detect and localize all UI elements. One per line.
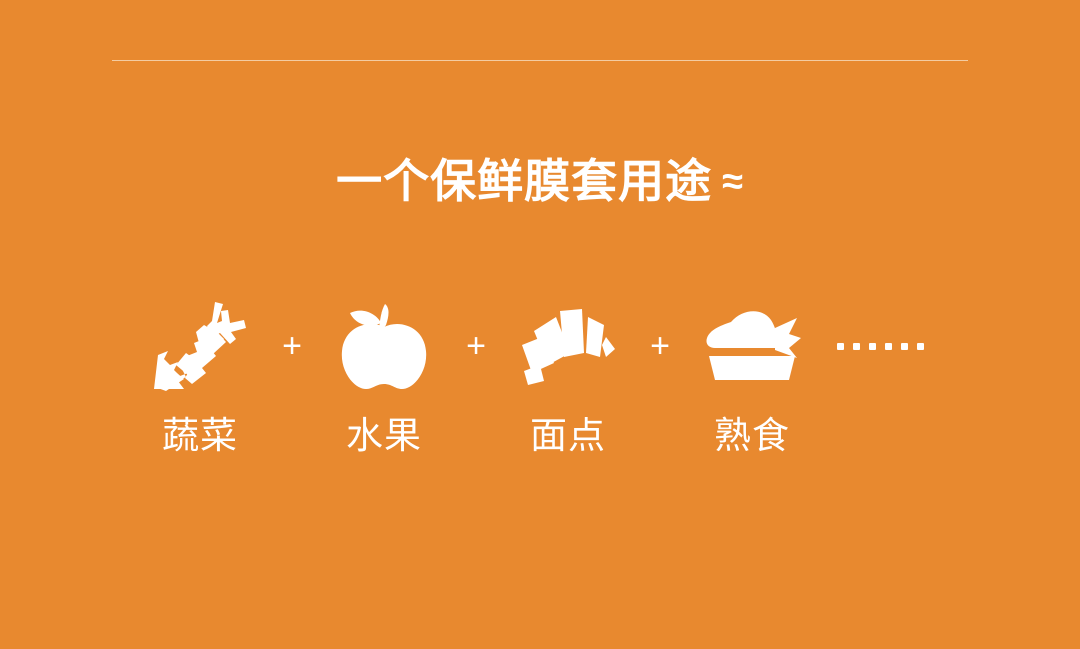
label-vegetables: 蔬菜 bbox=[140, 416, 260, 457]
apple-icon bbox=[338, 299, 430, 393]
plus-separator-2: + bbox=[444, 296, 508, 396]
ellipsis-dot bbox=[901, 343, 908, 350]
ellipsis-dots bbox=[812, 296, 932, 396]
ellipsis-dot bbox=[917, 343, 924, 350]
plus-separator-1: + bbox=[260, 296, 324, 396]
ellipsis-dot bbox=[869, 343, 876, 350]
item-pastry bbox=[508, 296, 628, 396]
label-row: 蔬菜 水果 面点 熟食 bbox=[140, 408, 950, 464]
page-title-text: 一个保鲜膜套用途 bbox=[336, 155, 712, 207]
croissant-icon bbox=[518, 301, 618, 391]
roast-chicken-platter-icon bbox=[701, 306, 803, 386]
plus-separator-3: + bbox=[628, 296, 692, 396]
ellipsis-dot bbox=[853, 343, 860, 350]
carrot-icon bbox=[152, 299, 248, 393]
item-vegetables bbox=[140, 296, 260, 396]
label-fruit: 水果 bbox=[324, 416, 444, 457]
label-cooked-food: 熟食 bbox=[692, 416, 812, 457]
poster-canvas: 一个保鲜膜套用途≈ + bbox=[0, 0, 1080, 649]
ellipsis-dot bbox=[885, 343, 892, 350]
ellipsis-dot bbox=[837, 343, 844, 350]
page-title: 一个保鲜膜套用途≈ bbox=[0, 158, 1080, 204]
item-cooked-food bbox=[692, 296, 812, 396]
icon-row: + + bbox=[140, 296, 950, 396]
item-fruit bbox=[324, 296, 444, 396]
label-pastry: 面点 bbox=[508, 416, 628, 457]
top-divider-rule bbox=[112, 60, 968, 61]
approx-symbol: ≈ bbox=[722, 161, 744, 203]
